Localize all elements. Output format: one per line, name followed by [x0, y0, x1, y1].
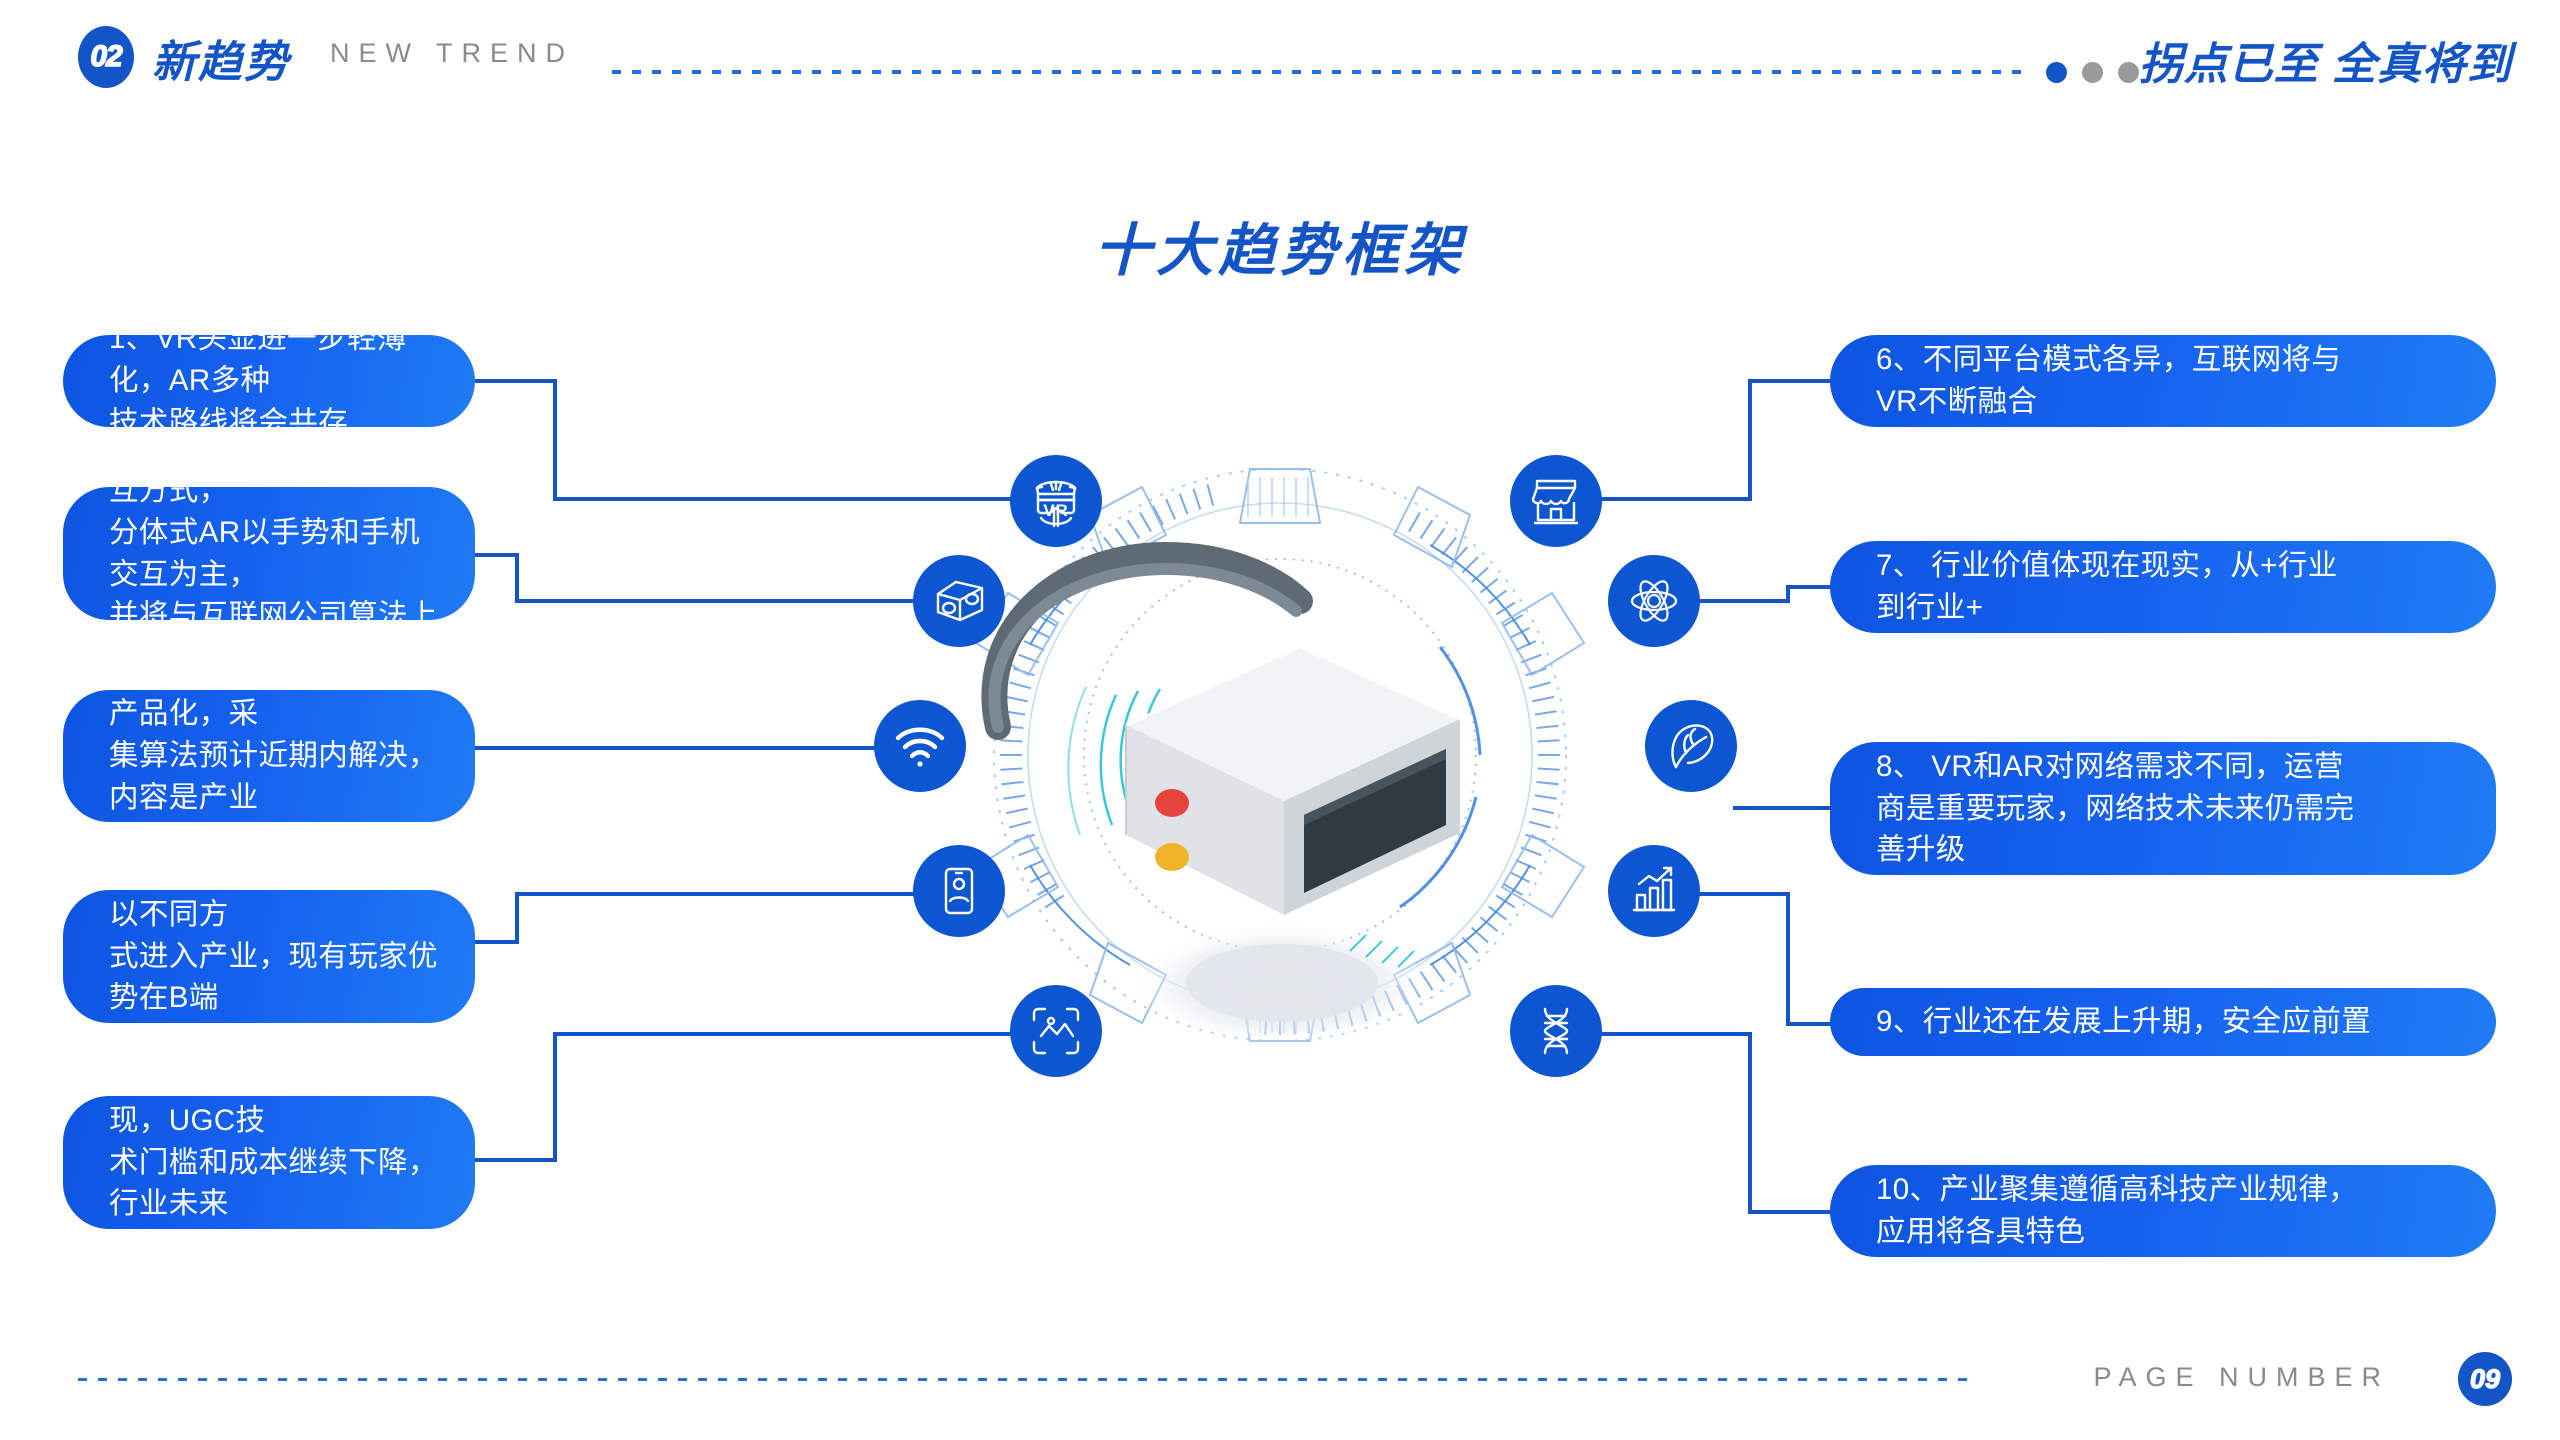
connector-4-h	[475, 940, 519, 944]
connector-4-h2	[515, 892, 917, 896]
trend-card-9[interactable]: 9、行业还在发展上升期，安全应前置	[1830, 988, 2496, 1056]
connector-9-h	[1786, 1022, 1832, 1026]
node-vr-headset-view[interactable]: VR	[1010, 455, 1102, 547]
node-content-capture[interactable]	[1010, 985, 1102, 1077]
node-bar-chart-growth[interactable]	[1608, 845, 1700, 937]
header-dot-inactive-1	[2082, 62, 2103, 83]
page-number-badge: 09	[2458, 1352, 2512, 1406]
section-title-en: NEW TREND	[330, 38, 574, 69]
connector-9-v	[1786, 892, 1790, 1026]
trend-card-3[interactable]: 3、光场显示硬件将逐步产品化，采 集算法预计近期内解决，内容是产业 发展瓶颈	[63, 690, 475, 822]
connector-7-h2	[1696, 599, 1790, 603]
node-dna[interactable]	[1510, 985, 1602, 1077]
trend-card-6[interactable]: 6、不同平台模式各异，互联网将与 VR不断融合	[1830, 335, 2496, 427]
section-title-cn: 新趋势	[152, 26, 290, 90]
header-dotted-rule	[612, 70, 2030, 74]
connector-6-h	[1748, 379, 1832, 383]
page-title: 十大趋势框架	[0, 205, 2560, 287]
connector-1-h	[475, 379, 557, 383]
header-dot-active	[2046, 62, 2067, 83]
node-network-head[interactable]	[1645, 700, 1737, 792]
connector-3-h	[475, 746, 879, 750]
trend-card-5[interactable]: 5、高质量内容不断涌现，UGC技 术门槛和成本继续下降，行业未来 急需出圈	[63, 1096, 475, 1229]
section-number-badge: 02	[78, 26, 134, 88]
trend-card-4-text: 4、手机和互联网厂商将以不同方 式进入产业，现有玩家优势在B端 市场	[109, 852, 445, 1061]
node-wifi[interactable]	[874, 700, 966, 792]
trend-card-8[interactable]: 8、 VR和AR对网络需求不同，运营 商是重要玩家，网络技术未来仍需完 善升级	[1830, 742, 2496, 875]
connector-10-h	[1748, 1210, 1832, 1214]
trend-card-1-text: 1、VR头显进一步轻薄化，AR多种 技术路线将会共存	[109, 318, 445, 444]
slide-canvas: 02 新趋势 NEW TREND 拐点已至 全真将到 十大趋势框架	[0, 0, 2560, 1440]
trend-card-3-text: 3、光场显示硬件将逐步产品化，采 集算法预计近期内解决，内容是产业 发展瓶颈	[109, 651, 445, 860]
connector-1-v	[553, 379, 557, 501]
page-number-text: 09	[2470, 1364, 2500, 1395]
connector-6-v	[1748, 379, 1752, 501]
connector-5-v	[553, 1032, 557, 1162]
trend-card-4[interactable]: 4、手机和互联网厂商将以不同方 式进入产业，现有玩家优势在B端 市场	[63, 890, 475, 1023]
connector-7-h	[1786, 585, 1832, 589]
vr-node-label: VR	[1010, 501, 1102, 521]
node-storefront[interactable]	[1510, 455, 1602, 547]
trend-card-10[interactable]: 10、产业聚集遵循高科技产业规律， 应用将各具特色	[1830, 1165, 2496, 1257]
trend-card-2[interactable]: 2、手柄仍是VR主流的交互方式， 分体式AR以手势和手机交互为主， 并将与互联网…	[63, 487, 475, 620]
trend-card-10-text: 10、产业聚集遵循高科技产业规律， 应用将各具特色	[1876, 1169, 2358, 1253]
connector-2-h	[475, 553, 519, 557]
trend-card-5-text: 5、高质量内容不断涌现，UGC技 术门槛和成本继续下降，行业未来 急需出圈	[109, 1058, 445, 1267]
header-tagline: 拐点已至 全真将到	[2139, 28, 2512, 92]
trend-card-7[interactable]: 7、 行业价值体现在现实，从+行业 到行业+	[1830, 541, 2496, 633]
footer-label: PAGE NUMBER	[2093, 1362, 2390, 1393]
connector-2-h2	[515, 599, 917, 603]
trend-card-2-text: 2、手柄仍是VR主流的交互方式， 分体式AR以手势和手机交互为主， 并将与互联网…	[109, 428, 445, 679]
slide-header: 02 新趋势 NEW TREND 拐点已至 全真将到	[0, 0, 2560, 110]
connector-2-v	[515, 553, 519, 603]
header-dot-inactive-2	[2118, 62, 2139, 83]
connector-9-h2	[1696, 892, 1790, 896]
node-mobile-phone[interactable]	[913, 845, 1005, 937]
connector-4-v	[515, 892, 519, 944]
trend-card-6-text: 6、不同平台模式各异，互联网将与 VR不断融合	[1876, 339, 2341, 423]
connector-8-h	[1733, 806, 1833, 810]
trend-card-1[interactable]: 1、VR头显进一步轻薄化，AR多种 技术路线将会共存	[63, 335, 475, 427]
section-number-text: 02	[90, 40, 121, 74]
node-atom[interactable]	[1608, 555, 1700, 647]
connector-10-v	[1748, 1032, 1752, 1214]
trend-card-8-text: 8、 VR和AR对网络需求不同，运营 商是重要玩家，网络技术未来仍需完 善升级	[1876, 746, 2354, 872]
trend-card-9-text: 9、行业还在发展上升期，安全应前置	[1876, 1001, 2371, 1043]
footer-dotted-rule	[78, 1378, 1978, 1381]
connector-5-h	[475, 1158, 557, 1162]
trend-card-7-text: 7、 行业价值体现在现实，从+行业 到行业+	[1876, 545, 2338, 629]
node-vr-cardboard[interactable]	[913, 555, 1005, 647]
